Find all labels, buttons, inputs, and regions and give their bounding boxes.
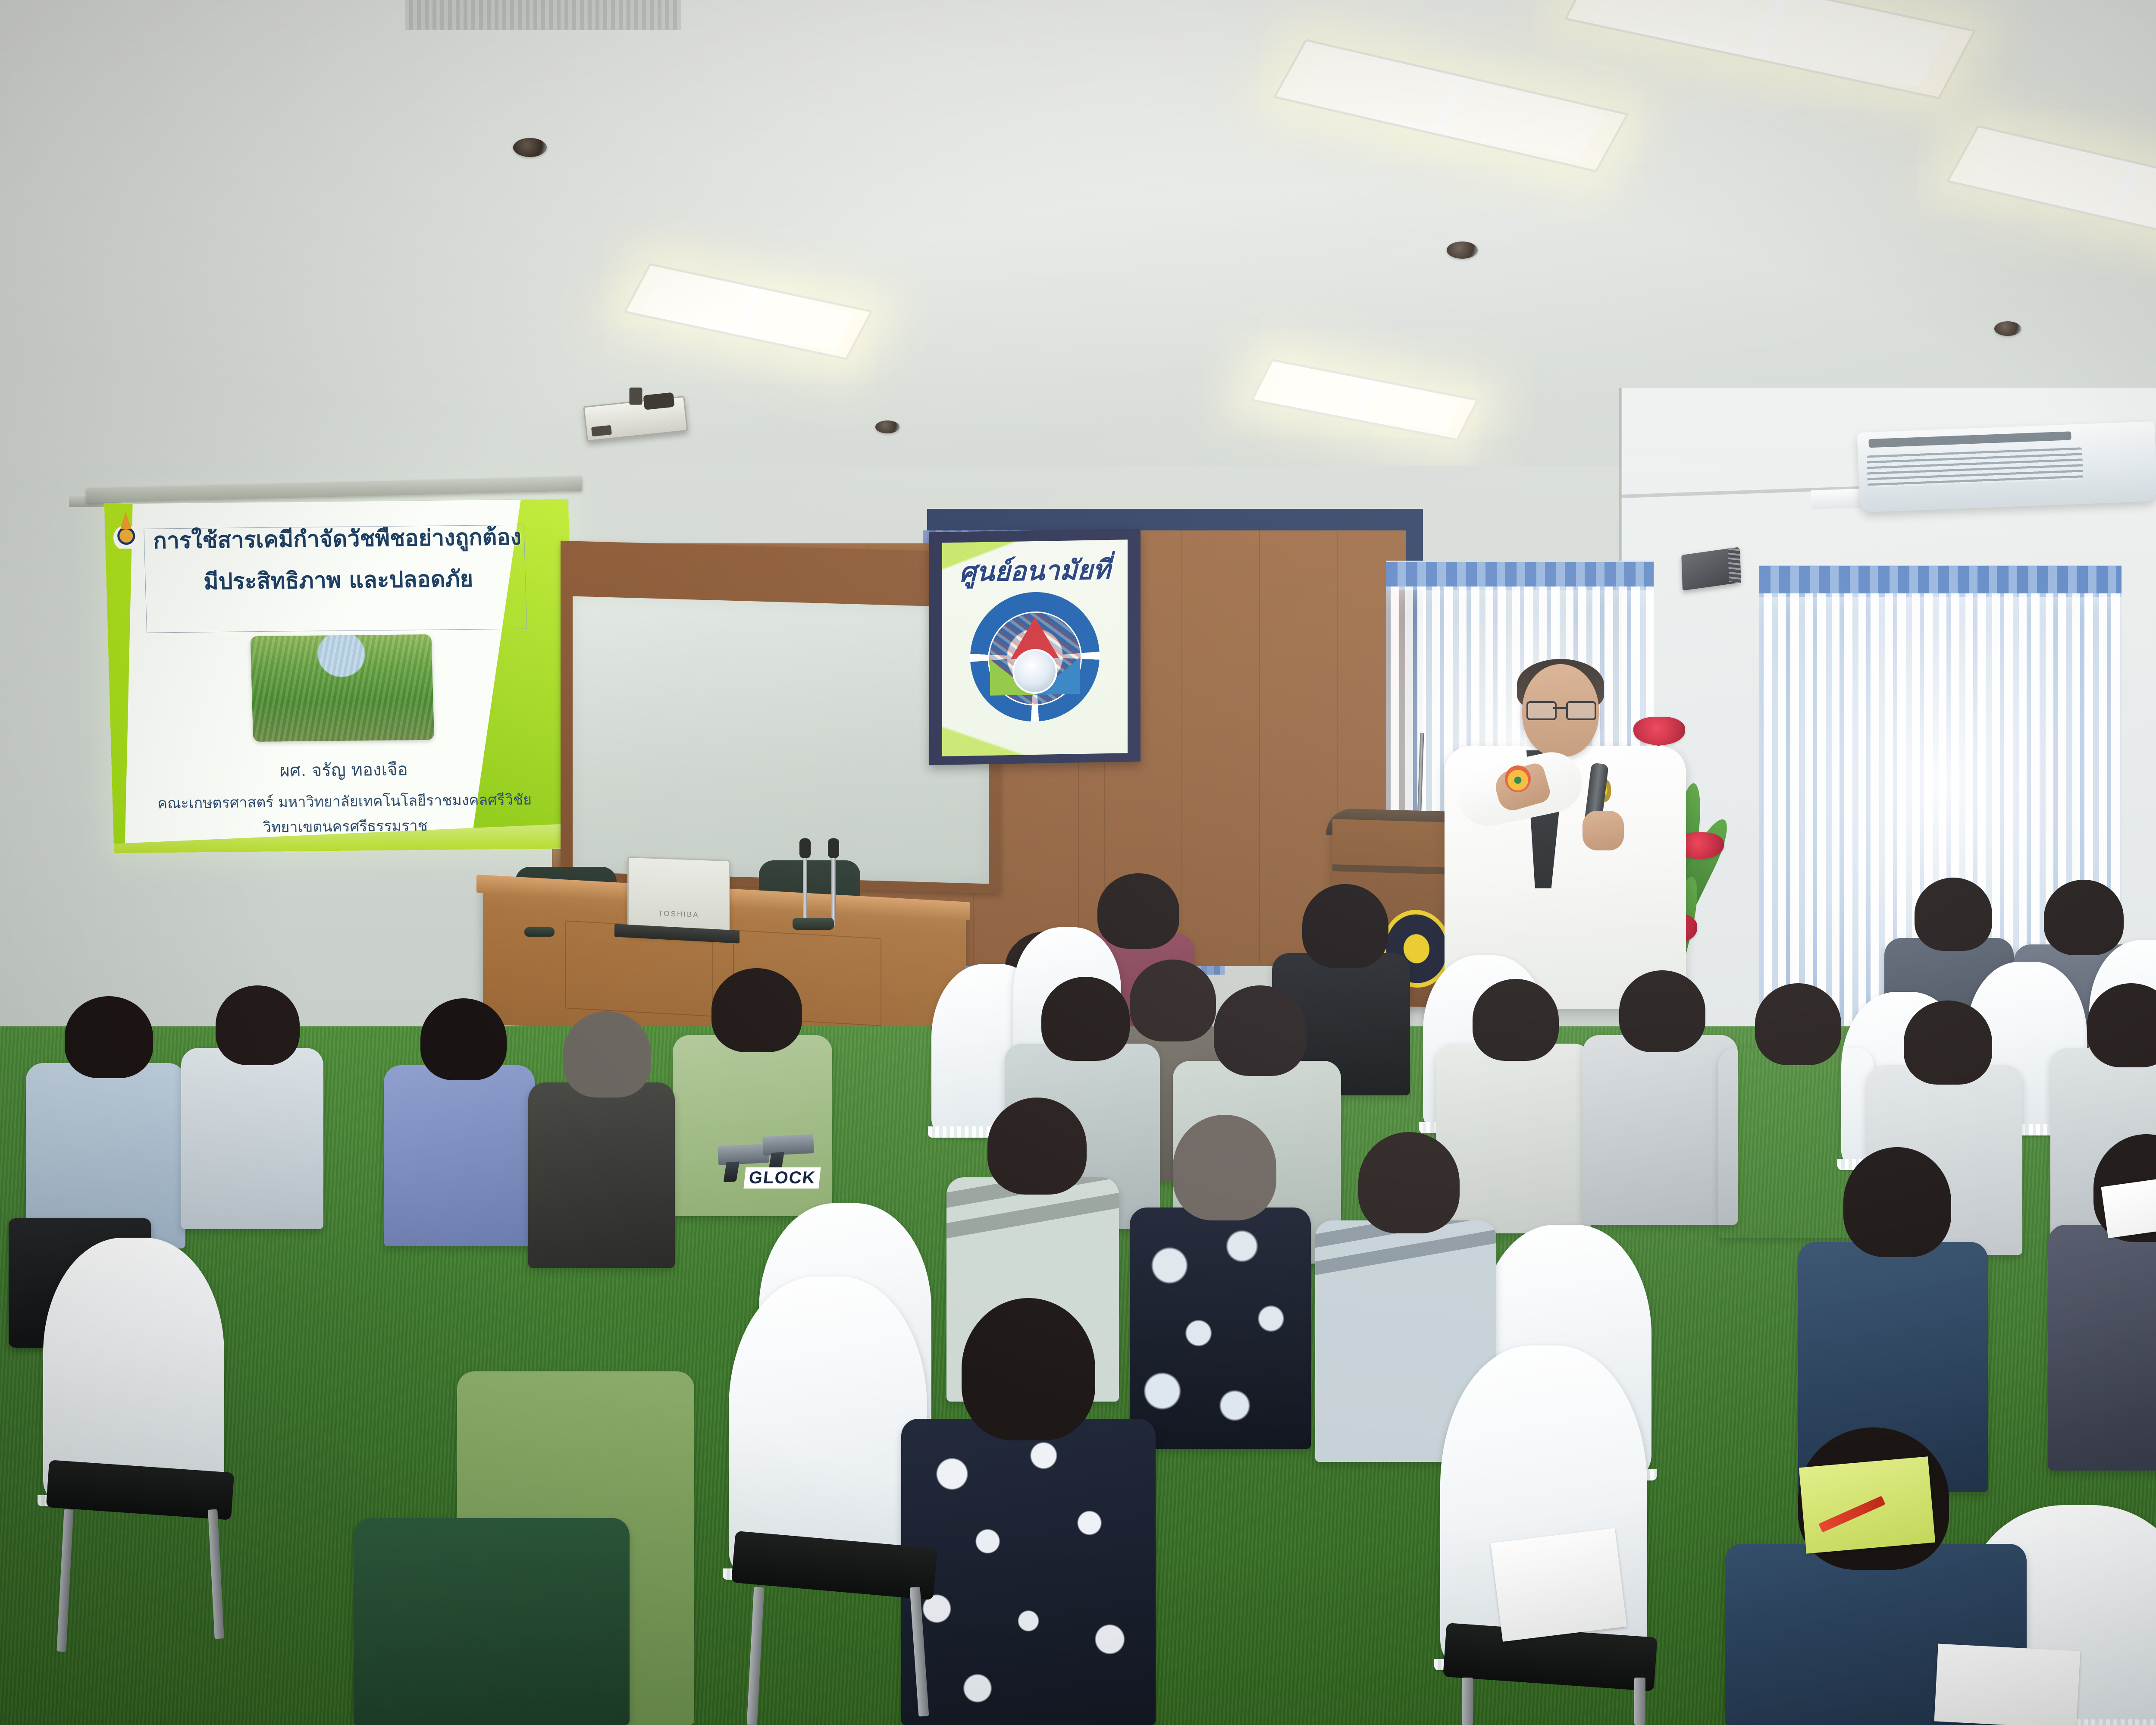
audience-hair (1041, 977, 1130, 1061)
whiteboard-surface[interactable] (573, 596, 989, 884)
audience-hair (1097, 873, 1179, 949)
chair-leg (1462, 1678, 1473, 1725)
red-flower (1633, 717, 1685, 745)
audience-hair (563, 1011, 651, 1098)
laptop-brand-label: TOSHIBA (629, 908, 729, 920)
audience-hair (1915, 878, 1992, 951)
ceiling-downlight (875, 420, 899, 433)
projected-slide: การใช้สารเคมีกำจัดวัชพืชอย่างถูกต้อง มีป… (104, 499, 579, 854)
glock-wordmark: GLOCK (743, 1167, 821, 1189)
eyeglasses-icon (1526, 701, 1594, 717)
table-microphone-head (828, 838, 839, 858)
glock-shirt-graphic: GLOCK (718, 1145, 830, 1197)
slide-affiliation-line1: คณะเกษตรศาสตร์ มหาวิทยาลัยเทคโนโลยีราชมง… (112, 787, 577, 815)
audience-hair (1302, 884, 1388, 968)
audience-person (1130, 1207, 1311, 1449)
audience-hair (987, 1098, 1087, 1195)
audience-person (1583, 1035, 1738, 1225)
pistol-icon (762, 1134, 814, 1156)
pistol-icon (718, 1144, 769, 1165)
audience-hair (216, 985, 300, 1065)
venue-banner: ศูนย์อนามัยที่ 11 (942, 539, 1128, 756)
wall-air-conditioner[interactable] (1857, 421, 2156, 512)
ac-vent-louvers (1867, 447, 2083, 487)
curtain-valance (1386, 561, 1654, 590)
audience-hair (1755, 983, 1841, 1065)
slide-speaker-name: ผศ. จรัญ ทองเจือ (111, 753, 576, 786)
audience-person (528, 1082, 675, 1268)
handout-paper[interactable] (1491, 1528, 1627, 1642)
audience-hair (711, 968, 802, 1052)
audience-hair (962, 1298, 1095, 1440)
photo-scene: การใช้สารเคมีกำจัดวัชพืชอย่างถูกต้อง มีป… (0, 0, 2156, 1725)
chair-with-cover (729, 1276, 927, 1574)
audience-person (354, 1518, 630, 1725)
audience-person (1436, 1044, 1591, 1233)
audience-hair (1843, 1147, 1951, 1257)
ceiling-air-diffuser (405, 0, 681, 30)
microphone-base (793, 918, 834, 930)
audience-hair (420, 998, 507, 1080)
table-microphone-stand (803, 855, 807, 926)
audience-person (181, 1048, 323, 1229)
curtain-valance (1759, 565, 2122, 597)
table-microphone-head (799, 838, 811, 858)
presenter-lapel-badge (1505, 765, 1531, 792)
audience-hair (65, 996, 153, 1078)
presenter-hand (1583, 811, 1624, 850)
audience-person (2048, 1225, 2156, 1471)
audience-person (384, 1065, 535, 1246)
audience-hair (1214, 985, 1307, 1076)
audience-hair (1473, 979, 1559, 1061)
audience-hair (1904, 1000, 1992, 1085)
audience-hair (1358, 1132, 1460, 1233)
ceiling-downlight (1994, 321, 2021, 336)
slide-title-line1: การใช้สารเคมีกำจัดวัชพืชอย่างถูกต้อง (105, 518, 570, 559)
slide-crop-photo (250, 634, 434, 742)
microphone-base (524, 927, 555, 937)
slide-affiliation-line2: วิทยาเขตนครศรีธรรมราช (113, 812, 578, 840)
handout-paper[interactable] (1934, 1643, 2081, 1725)
audience-person (901, 1419, 1156, 1725)
audience-hair (1173, 1115, 1276, 1220)
chair-leg (1634, 1678, 1645, 1725)
handout-paper[interactable] (2101, 1177, 2156, 1238)
slide-title-line2: มีประสิทธิภาพ และปลอดภัย (106, 559, 571, 600)
audience-hair (1130, 960, 1216, 1041)
ceiling-downlight (513, 138, 547, 157)
ceiling-downlight (1447, 241, 1478, 259)
audience-hair (1619, 970, 1705, 1052)
audience-hair (2044, 880, 2124, 955)
table-microphone-stand (831, 855, 836, 926)
ac-top-grille (1868, 431, 2071, 448)
